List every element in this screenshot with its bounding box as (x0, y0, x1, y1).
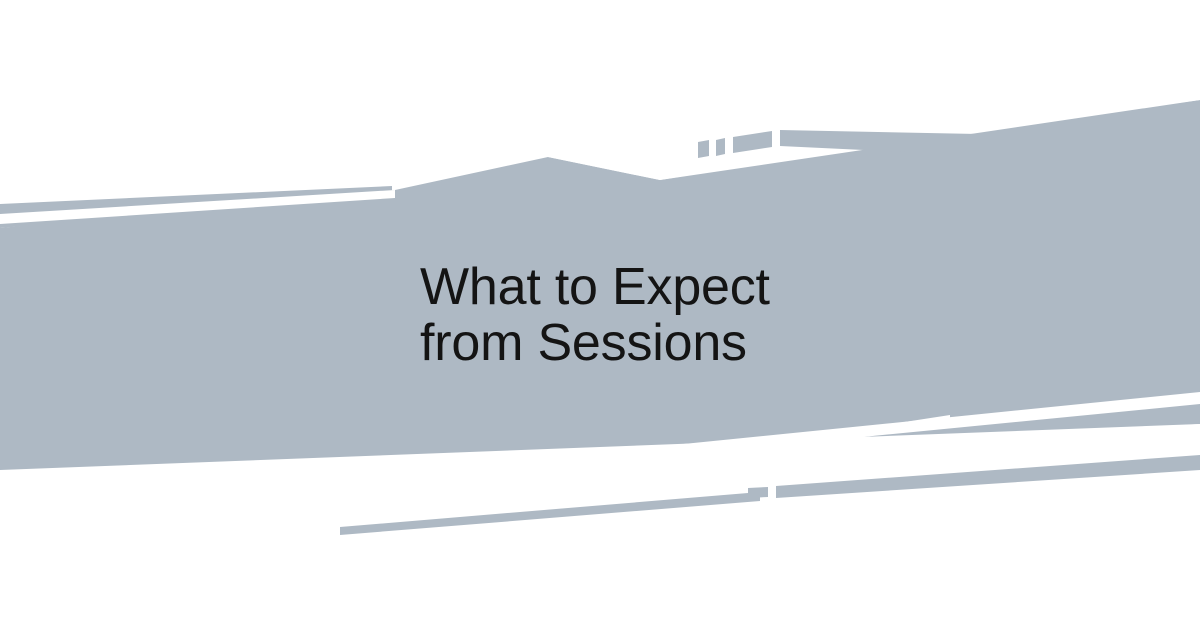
bottom-right-gray-nub (748, 487, 768, 498)
decorative-background-art (0, 0, 1200, 630)
top-right-dash-small-1 (698, 140, 709, 158)
top-right-dash-small-2 (716, 138, 725, 156)
banner-card: What to Expect from Sessions (0, 0, 1200, 630)
